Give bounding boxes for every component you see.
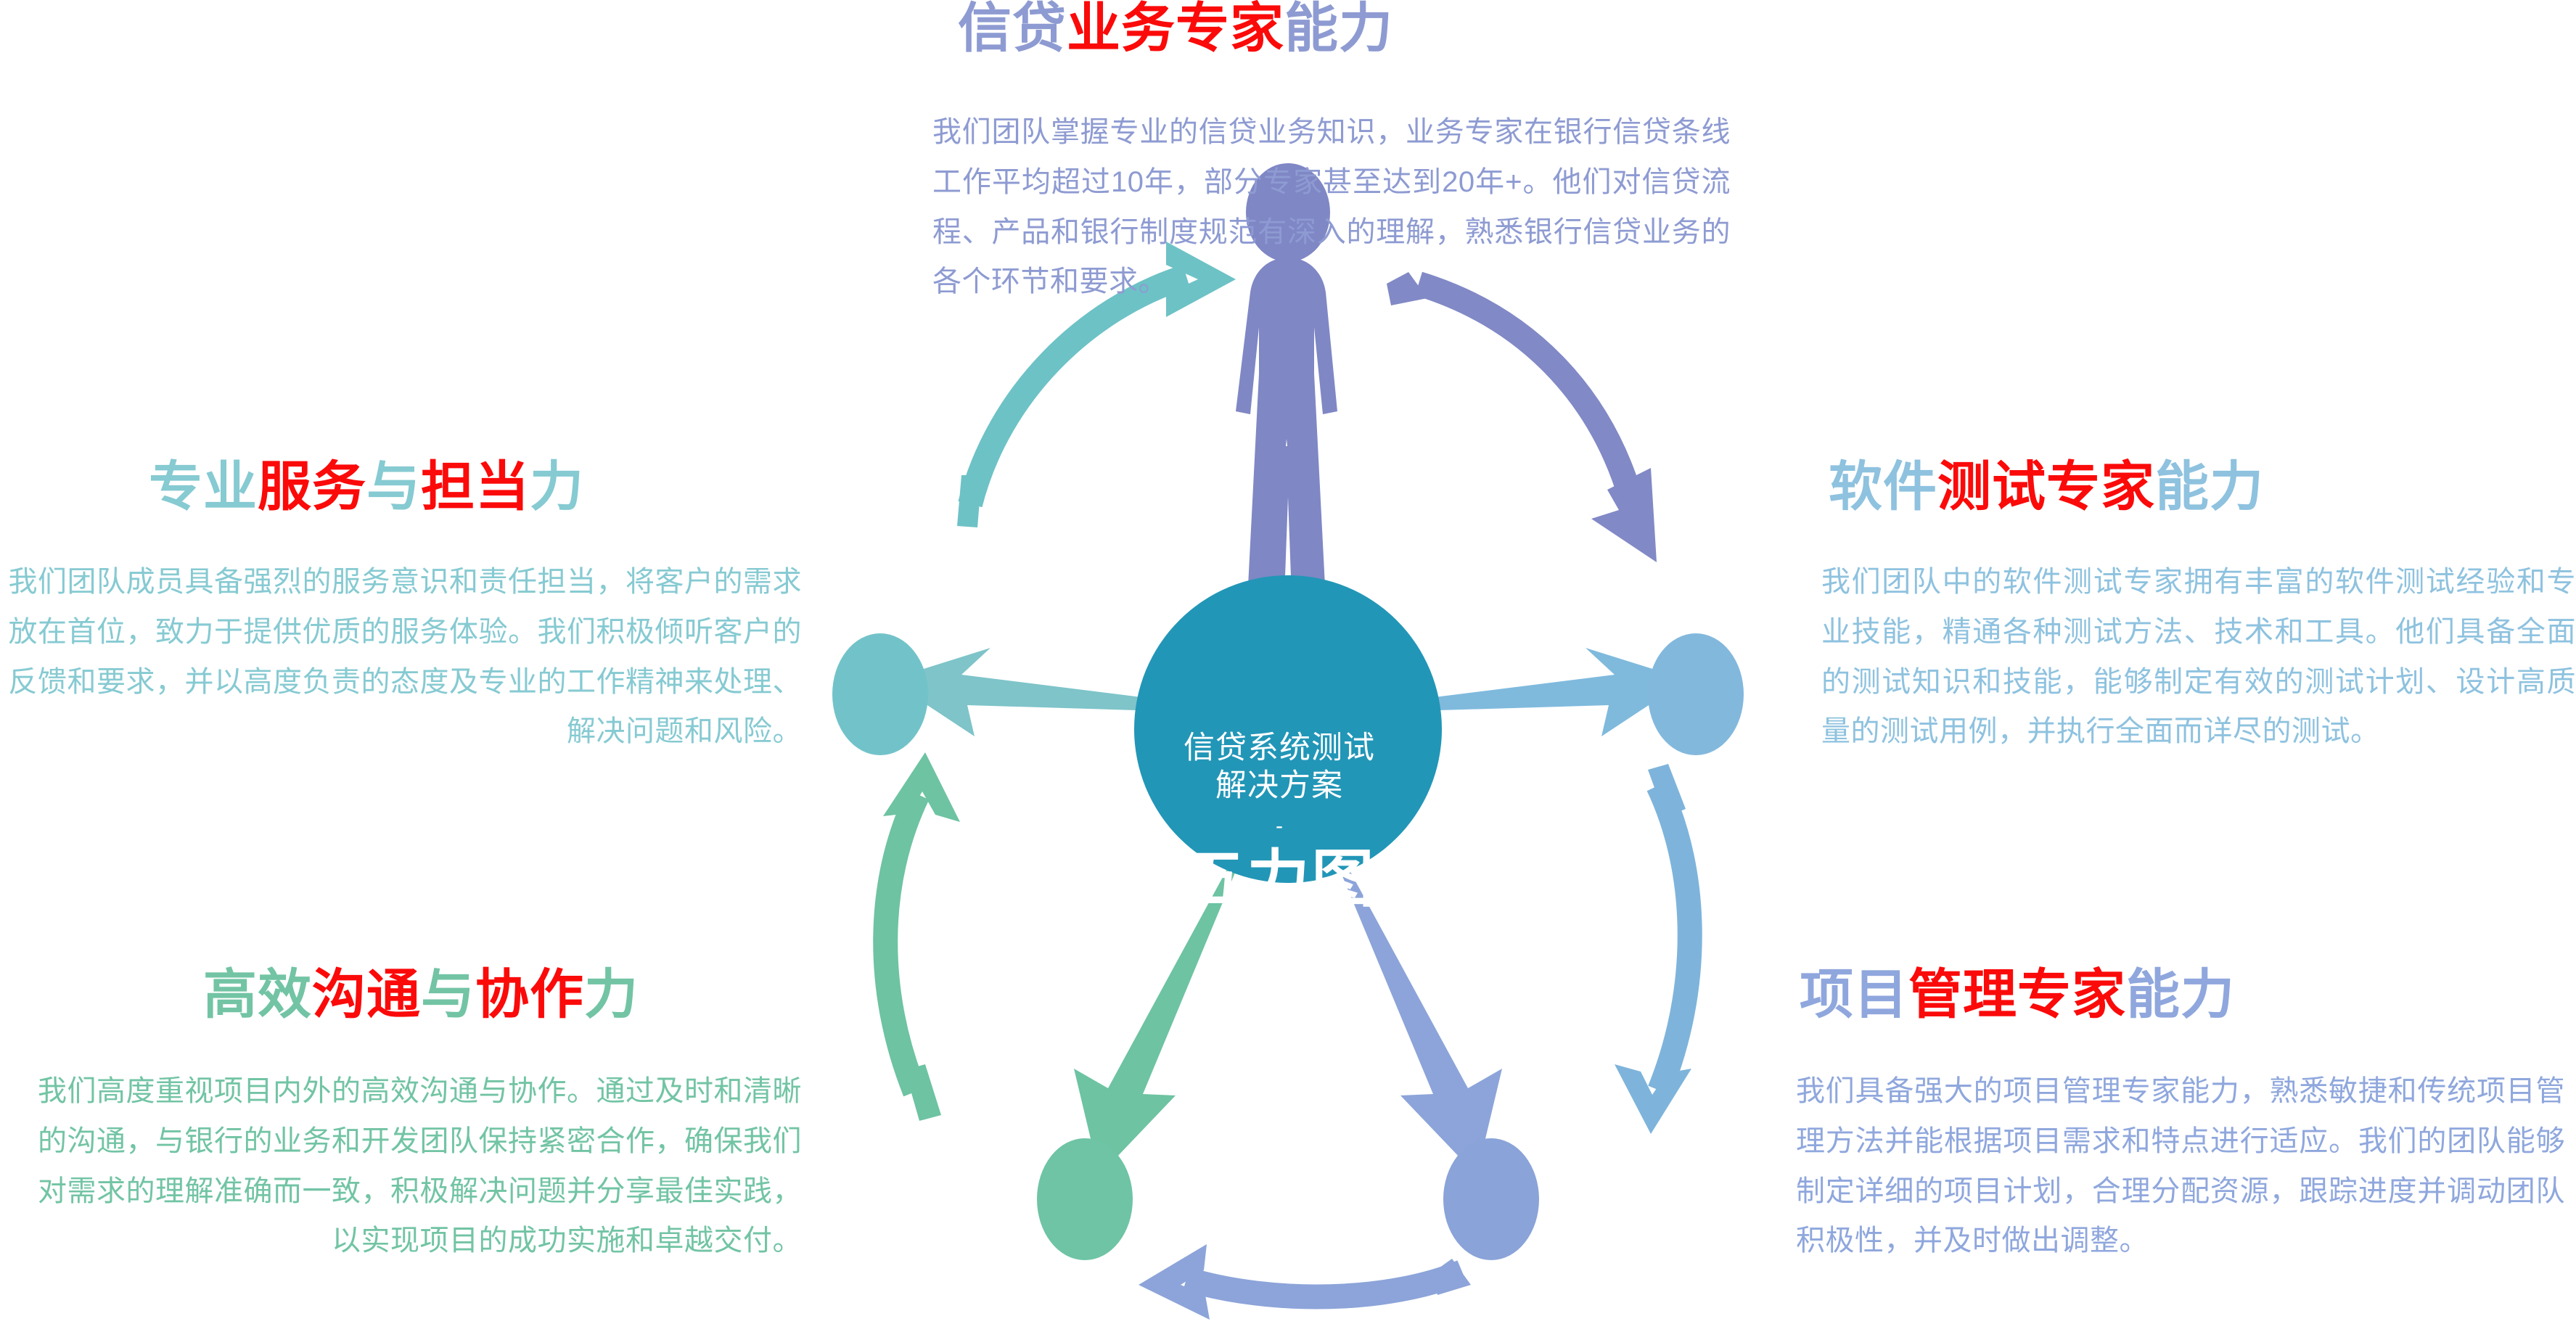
heading-segment-3: 能力 bbox=[2126, 968, 2235, 1021]
heading-segment-2: 测试专家 bbox=[1937, 460, 2155, 514]
node-bottom-left bbox=[1037, 1138, 1133, 1260]
heading-segment-1: 高效 bbox=[203, 968, 312, 1021]
heading-segment-2: 服务 bbox=[258, 460, 366, 514]
paragraph-credit: 我们团队掌握专业的信贷业务知识，业务专家在银行信贷条线工作平均超过10年，部分专… bbox=[932, 107, 1731, 307]
node-right bbox=[1648, 633, 1744, 755]
node-bottom-right bbox=[1443, 1138, 1539, 1260]
arc-arrow-blue bbox=[1615, 764, 1691, 1134]
heading-segment-4: 协作 bbox=[475, 968, 584, 1021]
paragraph-pm: 我们具备强大的项目管理专家能力，熟悉敏捷和传统项目管理方法并能根据项目需求和特点… bbox=[1796, 1066, 2565, 1266]
heading-comm: 高效沟通与协作力 bbox=[203, 968, 639, 1021]
heading-segment-1: 专业 bbox=[149, 460, 258, 514]
hub-circle bbox=[1134, 575, 1442, 883]
arc-arrow-purple bbox=[1387, 272, 1657, 562]
heading-qa: 软件测试专家能力 bbox=[1829, 460, 2264, 514]
heading-segment-1: 信贷 bbox=[958, 1, 1067, 55]
paragraph-qa: 我们团队中的软件测试专家拥有丰富的软件测试经验和专业技能，精通各种测试方法、技术… bbox=[1821, 557, 2576, 757]
heading-segment-1: 软件 bbox=[1829, 460, 1937, 514]
infographic-canvas: 信贷系统测试 解决方案 - 五力图 信贷业务专家能力 我们团队掌握专业的信贷业务… bbox=[0, 0, 2576, 1323]
heading-segment-3: 与 bbox=[421, 968, 475, 1021]
node-left bbox=[832, 633, 928, 755]
heading-segment-2: 沟通 bbox=[312, 968, 421, 1021]
heading-pm: 项目管理专家能力 bbox=[1800, 968, 2235, 1021]
heading-segment-4: 担当 bbox=[421, 460, 530, 514]
heading-segment-3: 能力 bbox=[1284, 1, 1393, 55]
heading-segment-5: 力 bbox=[530, 460, 584, 514]
heading-segment-3: 与 bbox=[366, 460, 421, 514]
five-forces-diagram bbox=[780, 156, 1796, 1324]
heading-segment-5: 力 bbox=[584, 968, 639, 1021]
paragraph-comm: 我们高度重视项目内外的高效沟通与协作。通过及时和清晰的沟通，与银行的业务和开发团… bbox=[15, 1066, 802, 1266]
arc-arrow-periwinkle bbox=[1139, 1244, 1471, 1320]
heading-segment-1: 项目 bbox=[1800, 968, 1908, 1021]
heading-segment-2: 管理专家 bbox=[1908, 968, 2126, 1021]
arc-arrow-green bbox=[883, 752, 960, 1121]
heading-credit: 信贷业务专家能力 bbox=[958, 1, 1393, 55]
heading-segment-3: 能力 bbox=[2155, 460, 2264, 514]
heading-service: 专业服务与担当力 bbox=[149, 460, 584, 514]
heading-segment-2: 业务专家 bbox=[1067, 1, 1284, 55]
paragraph-service: 我们团队成员具备强烈的服务意识和责任担当，将客户的需求放在首位，致力于提供优质的… bbox=[7, 557, 802, 757]
